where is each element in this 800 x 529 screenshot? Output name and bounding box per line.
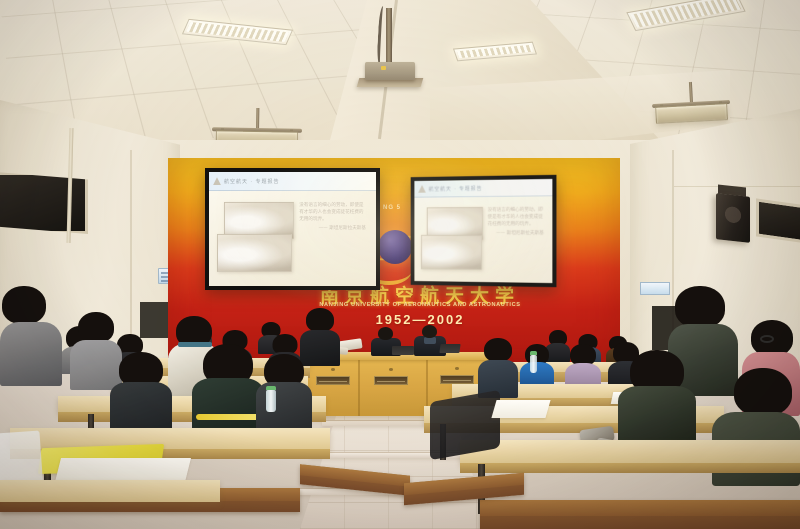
slide-attribution-right: —— 斯坦尼斯拉夫斯基 bbox=[488, 230, 544, 237]
presenter-1-head bbox=[378, 327, 393, 340]
paper-sheet bbox=[491, 400, 550, 418]
projection-screen-right: 航空航天 · 专题报告 没有语言的细心的劳动，即使是有才华的人也会变成徒花枉费的… bbox=[411, 175, 557, 287]
slide-body-text-right: 没有语言的细心的劳动，即使是有才华的人也会变成徒花枉费的无用的玩弄。 bbox=[488, 207, 543, 227]
projector-led-indicator bbox=[381, 66, 386, 70]
jacket-stripe bbox=[196, 414, 260, 420]
eyeglasses-icon bbox=[760, 335, 774, 343]
right-wall-window bbox=[756, 198, 800, 243]
slide-body-right: 没有语言的细心的劳动，即使是有才华的人也会变成徒花枉费的无用的玩弄。 —— 斯坦… bbox=[488, 206, 544, 237]
podium-plaque-1 bbox=[316, 376, 350, 385]
projector-icon bbox=[365, 62, 415, 80]
student bbox=[110, 352, 172, 430]
bench-row-1-right bbox=[480, 500, 800, 529]
student bbox=[520, 344, 554, 388]
laptop-2-icon bbox=[439, 344, 460, 353]
slide-title-left: 航空航天 · 专题报告 bbox=[224, 178, 279, 185]
coat-on-chair bbox=[430, 390, 500, 460]
student bbox=[256, 354, 312, 430]
water-bottle bbox=[266, 390, 276, 412]
podium-plaque-3 bbox=[440, 375, 474, 384]
anniversary-years: 1952—2002 bbox=[320, 312, 520, 327]
slide-logo-icon bbox=[418, 185, 426, 193]
student bbox=[0, 286, 62, 386]
presenter-2-scarf bbox=[424, 337, 436, 344]
wall-speaker-icon bbox=[716, 193, 750, 243]
lecture-hall-photo: NG 5 南京航空航天大学 NANJING UNIVERSITY OF AERO… bbox=[0, 0, 800, 529]
slide-image-2-left bbox=[217, 234, 292, 273]
slide-title-right: 航空航天 · 专题报告 bbox=[429, 185, 483, 193]
student bbox=[618, 350, 696, 444]
projection-screen-left: 航空航天 · 专题报告 没有语言的细心的劳动，即使是有才华的人也会变成徒花枉费的… bbox=[205, 168, 380, 290]
slide-header-left: 航空航天 · 专题报告 bbox=[209, 172, 376, 191]
slide-logo-icon bbox=[213, 177, 221, 185]
slide-body-text-left: 没有语言的细心的劳动，即使是有才华的人也会变成徒花枉费的无用的玩弄。 bbox=[299, 203, 363, 222]
left-wall-window bbox=[0, 172, 88, 234]
laptop-1-icon bbox=[392, 346, 414, 355]
pendant-light-3 bbox=[651, 80, 731, 126]
paper-sheet bbox=[55, 458, 191, 482]
slide-header-right: 航空航天 · 专题报告 bbox=[414, 179, 552, 198]
presenter-2-head bbox=[422, 325, 437, 338]
desk-row-1-left bbox=[0, 480, 220, 502]
desk-row-2-right bbox=[460, 440, 800, 464]
student bbox=[478, 338, 518, 398]
slide-surface-right: 航空航天 · 专题报告 没有语言的细心的劳动，即使是有才华的人也会变成徒花枉费的… bbox=[414, 179, 552, 283]
water-bottle bbox=[530, 355, 537, 373]
right-wall-notice-sign bbox=[640, 282, 670, 295]
slide-body-left: 没有语言的细心的劳动，即使是有才华的人也会变成徒花枉费的无用的玩弄。 —— 斯坦… bbox=[299, 202, 366, 232]
podium-plaque-2 bbox=[374, 376, 408, 385]
projector-mount-pole bbox=[386, 8, 392, 66]
slide-surface-left: 航空航天 · 专题报告 没有语言的细心的劳动，即使是有才华的人也会变成徒花枉费的… bbox=[209, 172, 376, 286]
slide-image-2-right bbox=[421, 235, 482, 270]
slide-attribution-left: —— 斯坦尼斯拉夫斯基 bbox=[299, 225, 366, 232]
